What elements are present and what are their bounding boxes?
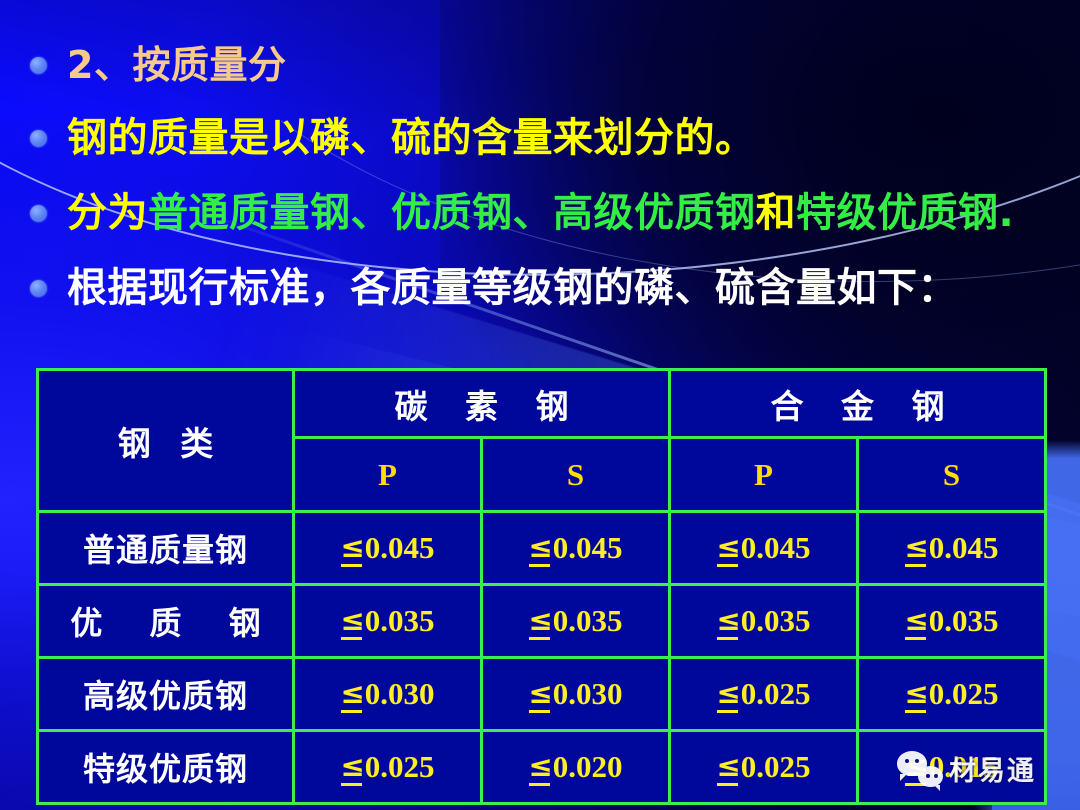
table-cell: ≤0.020 [482, 731, 670, 804]
less-equal-icon: ≤ [340, 676, 364, 710]
less-equal-icon: ≤ [904, 530, 928, 564]
table-cell-value: 0.045 [365, 530, 435, 565]
table-row: 高级优质钢 ≤0.030 ≤0.030 ≤0.025 ≤0.025 [38, 658, 1046, 731]
table-cell-value: 0.045 [929, 530, 999, 565]
bullet-item-1: 2、按质量分 [30, 46, 286, 84]
wechat-eye [915, 759, 919, 763]
wechat-eye [934, 774, 938, 778]
table-corner-header: 钢 类 [38, 370, 294, 512]
table-cell-value: 0.025 [929, 676, 999, 711]
table-cell: ≤0.035 [482, 585, 670, 658]
table-cell: ≤0.035 [858, 585, 1046, 658]
less-equal-icon: ≤ [340, 603, 364, 637]
watermark: 材易通 [897, 749, 1036, 788]
table-cell-value: 0.030 [553, 676, 623, 711]
table-cell-value: 0.045 [741, 530, 811, 565]
bullet-3-segment-2: 普通质量钢、优质钢、高级优质钢 [148, 190, 756, 236]
table-cell: ≤0.030 [482, 658, 670, 731]
table-cell: ≤0.025 [858, 658, 1046, 731]
less-equal-icon: ≤ [904, 603, 928, 637]
table-row-label: 优 质 钢 [38, 585, 294, 658]
bullet-dot-icon [30, 57, 47, 74]
table-row-label: 普通质量钢 [38, 512, 294, 585]
table-cell: ≤0.025 [670, 658, 858, 731]
table-cell: ≤0.035 [294, 585, 482, 658]
watermark-text: 材易通 [949, 749, 1036, 788]
table-cell: ≤0.035 [670, 585, 858, 658]
less-equal-icon: ≤ [528, 749, 552, 783]
less-equal-icon: ≤ [716, 749, 740, 783]
table-cell: ≤0.045 [294, 512, 482, 585]
bullet-item-3: 分为普通质量钢、优质钢、高级优质钢和特级优质钢. [30, 193, 1014, 233]
wechat-icon [897, 751, 943, 787]
table-cell-value: 0.025 [365, 749, 435, 784]
less-equal-icon: ≤ [716, 530, 740, 564]
table-group-header-alloy-steel: 合 金 钢 [670, 370, 1046, 438]
table-subheader-alloy-s: S [858, 438, 1046, 512]
table-row-label: 特级优质钢 [38, 731, 294, 804]
less-equal-icon: ≤ [716, 676, 740, 710]
wechat-eye [926, 774, 930, 778]
bullet-item-2-text: 钢的质量是以磷、硫的含量来划分的。 [67, 118, 756, 158]
table-group-header-carbon-steel: 碳 素 钢 [294, 370, 670, 438]
bullet-dot-icon [30, 130, 47, 147]
table-cell-value: 0.035 [741, 603, 811, 638]
less-equal-icon: ≤ [528, 676, 552, 710]
table-cell-value: 0.020 [553, 749, 623, 784]
bullet-3-segment-4: 特级优质钢. [796, 190, 1014, 236]
bullet-item-2: 钢的质量是以磷、硫的含量来划分的。 [30, 118, 756, 158]
table-cell-value: 0.035 [553, 603, 623, 638]
table-cell: ≤0.045 [670, 512, 858, 585]
table-cell-value: 0.045 [553, 530, 623, 565]
table-cell: ≤0.045 [858, 512, 1046, 585]
table-cell: ≤0.025 [294, 731, 482, 804]
table-row: 普通质量钢 ≤0.045 ≤0.045 ≤0.045 ≤0.045 [38, 512, 1046, 585]
table-cell: ≤0.030 [294, 658, 482, 731]
less-equal-icon: ≤ [340, 530, 364, 564]
table-cell-value: 0.025 [741, 676, 811, 711]
table-header-row-groups: 钢 类 碳 素 钢 合 金 钢 [38, 370, 1046, 438]
steel-quality-table: 钢 类 碳 素 钢 合 金 钢 P S P S 普通质量钢 ≤0.045 ≤0.… [36, 368, 1047, 805]
bullet-item-3-text: 分为普通质量钢、优质钢、高级优质钢和特级优质钢. [67, 193, 1014, 233]
table-row: 特级优质钢 ≤0.025 ≤0.020 ≤0.025 ≤0.015 [38, 731, 1046, 804]
table-cell: ≤0.025 [670, 731, 858, 804]
slide-canvas: 2、按质量分 钢的质量是以磷、硫的含量来划分的。 分为普通质量钢、优质钢、高级优… [0, 0, 1080, 810]
table-cell-value: 0.035 [929, 603, 999, 638]
wechat-eye [905, 759, 909, 763]
bullet-dot-icon [30, 205, 47, 222]
table-subheader-carbon-p: P [294, 438, 482, 512]
bullet-3-segment-1: 分为 [67, 190, 148, 236]
table-cell-value: 0.035 [365, 603, 435, 638]
table-cell: ≤0.045 [482, 512, 670, 585]
wechat-bubble-small [918, 766, 943, 787]
bullet-item-4-text: 根据现行标准，各质量等级钢的磷、硫含量如下： [67, 268, 958, 308]
bullet-item-1-text: 2、按质量分 [67, 46, 286, 84]
steel-quality-table-wrapper: 钢 类 碳 素 钢 合 金 钢 P S P S 普通质量钢 ≤0.045 ≤0.… [36, 368, 1044, 805]
less-equal-icon: ≤ [716, 603, 740, 637]
bullet-3-segment-3: 和 [756, 190, 797, 236]
less-equal-icon: ≤ [340, 749, 364, 783]
table-cell-value: 0.030 [365, 676, 435, 711]
table-subheader-alloy-p: P [670, 438, 858, 512]
table-row: 优 质 钢 ≤0.035 ≤0.035 ≤0.035 ≤0.035 [38, 585, 1046, 658]
less-equal-icon: ≤ [528, 603, 552, 637]
bullet-dot-icon [30, 280, 47, 297]
table-subheader-carbon-s: S [482, 438, 670, 512]
less-equal-icon: ≤ [904, 676, 928, 710]
table-row-label: 高级优质钢 [38, 658, 294, 731]
less-equal-icon: ≤ [528, 530, 552, 564]
table-cell-value: 0.025 [741, 749, 811, 784]
bullet-item-4: 根据现行标准，各质量等级钢的磷、硫含量如下： [30, 268, 958, 308]
